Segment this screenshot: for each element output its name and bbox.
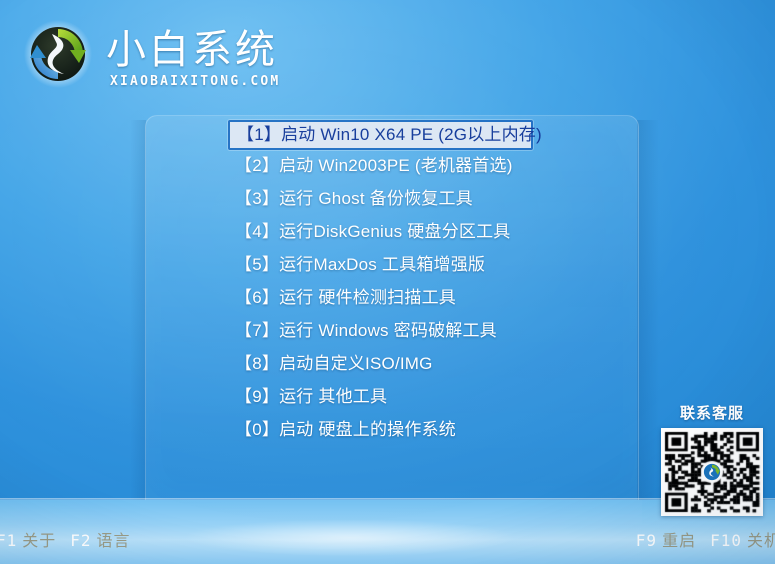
brand-url: XIAOBAIXITONG.COM [110,74,280,89]
boot-menu-item-label: 运行MaxDos 工具箱增强版 [279,252,485,278]
boot-menu-item-1[interactable]: 【1】启动 Win10 X64 PE (2G以上内存) [228,120,533,150]
xiaobai-circular-logo-icon [22,18,94,90]
boot-menu-item-key: 【8】 [235,351,279,377]
boot-menu-item-4[interactable]: 【4】运行DiskGenius 硬盘分区工具 [228,219,533,245]
boot-menu-item-label: 启动 Win2003PE (老机器首选) [279,153,513,179]
boot-menu-item-2[interactable]: 【2】启动 Win2003PE (老机器首选) [228,153,533,179]
contact-support-block: 联系客服 [658,402,766,516]
boot-menu-item-label: 运行 硬件检测扫描工具 [279,285,456,311]
boot-menu-item-8[interactable]: 【8】启动自定义ISO/IMG [228,351,533,377]
hint-key-f10: F10 [710,531,742,550]
boot-menu-item-label: 启动 硬盘上的操作系统 [279,417,456,443]
panel-left-shadow [130,120,146,500]
hint-label-f9: 重启 [662,533,696,550]
xiaobai-logo-icon [702,462,722,482]
boot-menu-item-label: 运行DiskGenius 硬盘分区工具 [279,219,510,245]
hint-label-f10: 关机 [747,533,775,550]
footer-hints-left: F1关于F2语言 [0,531,131,552]
boot-menu-item-key: 【0】 [235,417,279,443]
boot-menu-item-label: 运行 Ghost 备份恢复工具 [279,186,473,212]
boot-menu-item-key: 【9】 [235,384,279,410]
hint-label-f2: 语言 [97,533,131,550]
panel-right-shadow [637,120,659,500]
boot-menu-item-key: 【7】 [235,318,279,344]
boot-menu-item-7[interactable]: 【7】运行 Windows 密码破解工具 [228,318,533,344]
boot-menu-item-label: 运行 Windows 密码破解工具 [279,318,497,344]
hint-key-f2: F2 [70,531,91,550]
boot-menu-item-label: 启动自定义ISO/IMG [279,351,433,377]
footer-hints-right: F9重启F10关机 [636,531,775,552]
boot-menu-item-key: 【1】 [237,122,281,148]
boot-menu-item-key: 【4】 [235,219,279,245]
boot-menu-item-10[interactable]: 【0】启动 硬盘上的操作系统 [228,417,533,443]
hint-key-f9: F9 [636,531,657,550]
hint-key-f1: F1 [0,531,17,550]
boot-menu-item-5[interactable]: 【5】运行MaxDos 工具箱增强版 [228,252,533,278]
boot-menu-list[interactable]: 【1】启动 Win10 X64 PE (2G以上内存)【2】启动 Win2003… [228,120,533,450]
brand-name: 小白系统 [106,28,278,72]
boot-menu-screen: 小白系统 XIAOBAIXITONG.COM 【1】启动 Win10 X64 P… [0,0,775,564]
boot-menu-item-3[interactable]: 【3】运行 Ghost 备份恢复工具 [228,186,533,212]
qr-code-icon[interactable] [661,428,763,516]
boot-menu-item-key: 【3】 [235,186,279,212]
boot-menu-item-label: 运行 其他工具 [279,384,387,410]
boot-menu-item-label: 启动 Win10 X64 PE (2G以上内存) [281,122,542,148]
contact-support-title: 联系客服 [658,402,766,423]
boot-menu-item-6[interactable]: 【6】运行 硬件检测扫描工具 [228,285,533,311]
boot-menu-item-key: 【6】 [235,285,279,311]
boot-menu-item-9[interactable]: 【9】运行 其他工具 [228,384,533,410]
hint-label-f1: 关于 [22,533,56,550]
boot-menu-item-key: 【5】 [235,252,279,278]
brand-header: 小白系统 XIAOBAIXITONG.COM [14,14,314,94]
boot-menu-item-key: 【2】 [235,153,279,179]
